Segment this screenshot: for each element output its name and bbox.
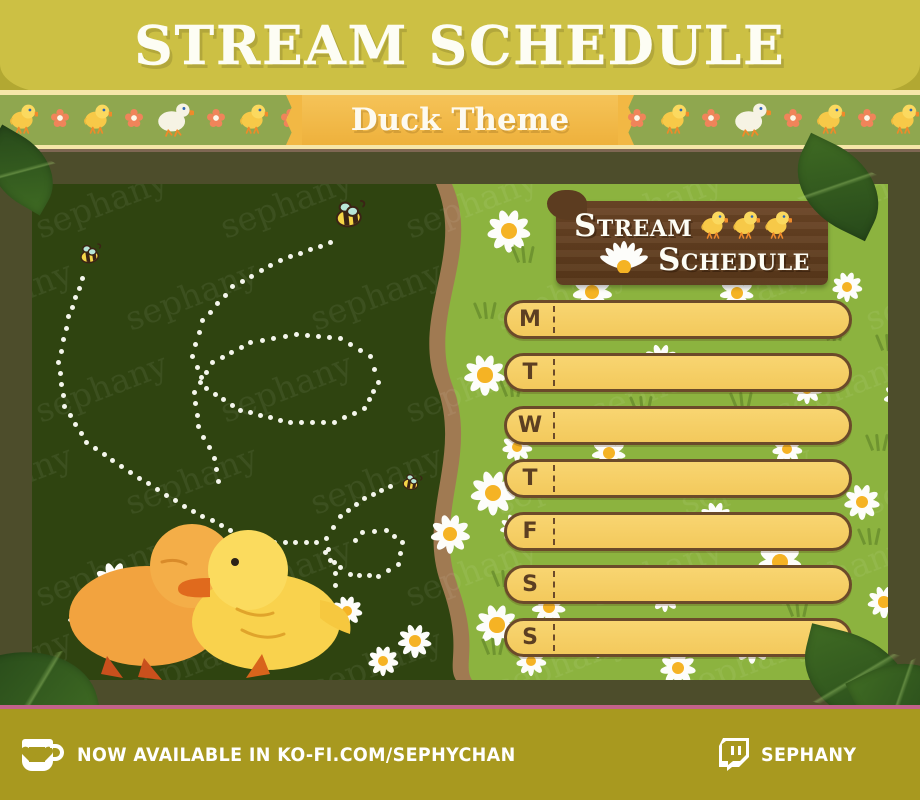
sign-line-2: Schedule xyxy=(658,242,810,278)
day-letter: S xyxy=(507,621,553,654)
duck-banner-strip: Duck Theme xyxy=(0,95,920,145)
sign-daisy-icon xyxy=(598,241,650,278)
schedule-row-tuesday[interactable]: T xyxy=(504,353,852,392)
kofi-cup-icon xyxy=(22,739,64,771)
day-divider xyxy=(553,359,555,386)
schedule-row-saturday[interactable]: S xyxy=(504,565,852,604)
duckling-icon xyxy=(238,102,268,139)
day-divider xyxy=(553,306,555,333)
wooden-sign: Stream xyxy=(556,201,828,285)
schedule-rows: MTWTFSS xyxy=(504,300,852,671)
flower-icon xyxy=(702,109,720,132)
day-entry-slot[interactable] xyxy=(557,356,845,389)
duckling-icon xyxy=(82,102,112,139)
sign-duckling-icon xyxy=(763,226,792,243)
flower-icon xyxy=(858,109,876,132)
kofi-label: NOW AVAILABLE IN KO-FI.COM/SEPHYCHAN xyxy=(77,744,516,766)
schedule-row-wednesday[interactable]: W xyxy=(504,406,852,445)
duckling-icon xyxy=(889,102,919,139)
sign-duckling-row xyxy=(699,209,795,244)
schedule-row-friday[interactable]: F xyxy=(504,512,852,551)
duckling-illustration xyxy=(52,504,382,680)
kofi-link[interactable]: NOW AVAILABLE IN KO-FI.COM/SEPHYCHAN xyxy=(22,739,554,771)
day-entry-slot[interactable] xyxy=(557,621,845,654)
day-entry-slot[interactable] xyxy=(557,515,845,548)
day-divider xyxy=(553,465,555,492)
day-divider xyxy=(553,412,555,439)
day-divider xyxy=(553,571,555,598)
goose-icon xyxy=(156,98,194,143)
twitch-link[interactable]: SEPHANY xyxy=(719,738,865,771)
banner-ducks-left xyxy=(0,95,300,145)
twitch-glitch-icon xyxy=(719,738,749,771)
duckling-icon xyxy=(659,102,689,139)
day-letter: M xyxy=(507,303,553,336)
flower-icon xyxy=(784,109,802,132)
flower-icon xyxy=(51,109,69,132)
day-divider xyxy=(553,624,555,651)
twitch-label: SEPHANY xyxy=(761,744,856,766)
flower-icon xyxy=(125,109,143,132)
header-band: STREAM SCHEDULE xyxy=(0,0,920,92)
sign-line-1: Stream xyxy=(574,208,692,244)
duckling-icon xyxy=(815,102,845,139)
goose-icon xyxy=(733,98,771,143)
day-letter: F xyxy=(507,515,553,548)
theme-label: Duck Theme xyxy=(351,102,569,138)
banner-ducks-right xyxy=(620,95,920,145)
day-entry-slot[interactable] xyxy=(557,568,845,601)
theme-ribbon: Duck Theme xyxy=(300,95,620,145)
schedule-row-thursday[interactable]: T xyxy=(504,459,852,498)
day-letter: W xyxy=(507,409,553,442)
schedule-template-page: STREAM SCHEDULE Duck Theme sephanysephan… xyxy=(0,0,920,800)
day-entry-slot[interactable] xyxy=(557,462,845,495)
day-entry-slot[interactable] xyxy=(557,409,845,442)
flower-icon xyxy=(628,109,646,132)
schedule-stage: sephanysephanysephanysephanysephanysepha… xyxy=(32,184,888,680)
sign-duckling-icon xyxy=(731,226,760,243)
day-letter: S xyxy=(507,568,553,601)
day-entry-slot[interactable] xyxy=(557,303,845,336)
day-letter: T xyxy=(507,356,553,389)
schedule-row-sunday[interactable]: S xyxy=(504,618,852,657)
footer-bar: NOW AVAILABLE IN KO-FI.COM/SEPHYCHAN SEP… xyxy=(0,709,920,800)
flower-icon xyxy=(207,109,225,132)
day-divider xyxy=(553,518,555,545)
day-letter: T xyxy=(507,462,553,495)
schedule-row-monday[interactable]: M xyxy=(504,300,852,339)
sign-duckling-icon xyxy=(699,226,728,243)
page-title: STREAM SCHEDULE xyxy=(0,0,920,92)
